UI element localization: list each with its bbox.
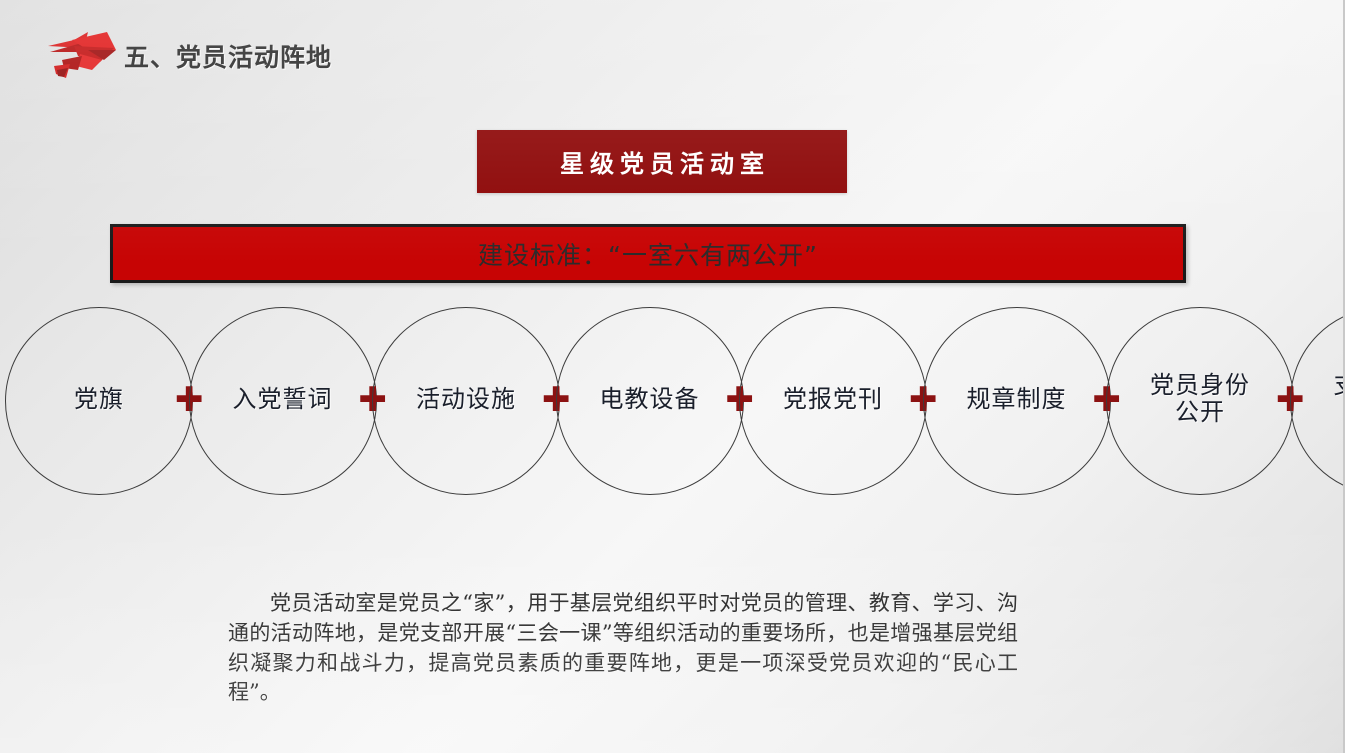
venn-circle[interactable] <box>1290 307 1345 495</box>
venn-circle[interactable] <box>189 307 377 495</box>
standard-bar-text: 建设标准：“一室六有两公开” <box>478 236 818 272</box>
venn-circle[interactable] <box>739 307 927 495</box>
venn-circle[interactable] <box>372 307 560 495</box>
venn-circle-row: 党旗✚入党誓词✚活动设施✚电教设备✚党报党刊✚规章制度✚党员身份公开✚支部党务公… <box>0 305 1345 500</box>
description-paragraph: 党员活动室是党员之“家”，用于基层党组织平时对党员的管理、教育、学习、沟通的活动… <box>228 589 1018 708</box>
venn-circle[interactable] <box>556 307 744 495</box>
origami-dove-icon <box>44 26 118 82</box>
page-title: 五、党员活动阵地 <box>124 38 332 74</box>
slide-canvas: 五、党员活动阵地 星级党员活动室 建设标准：“一室六有两公开” 党旗✚入党誓词✚… <box>0 0 1345 753</box>
venn-circle[interactable] <box>923 307 1111 495</box>
slide-header: 五、党员活动阵地 <box>0 0 1343 110</box>
venn-circle[interactable] <box>1106 307 1294 495</box>
standard-bar: 建设标准：“一室六有两公开” <box>110 224 1186 283</box>
title-banner-text: 星级党员活动室 <box>554 144 770 179</box>
title-banner: 星级党员活动室 <box>477 130 847 193</box>
venn-circle[interactable] <box>5 307 193 495</box>
